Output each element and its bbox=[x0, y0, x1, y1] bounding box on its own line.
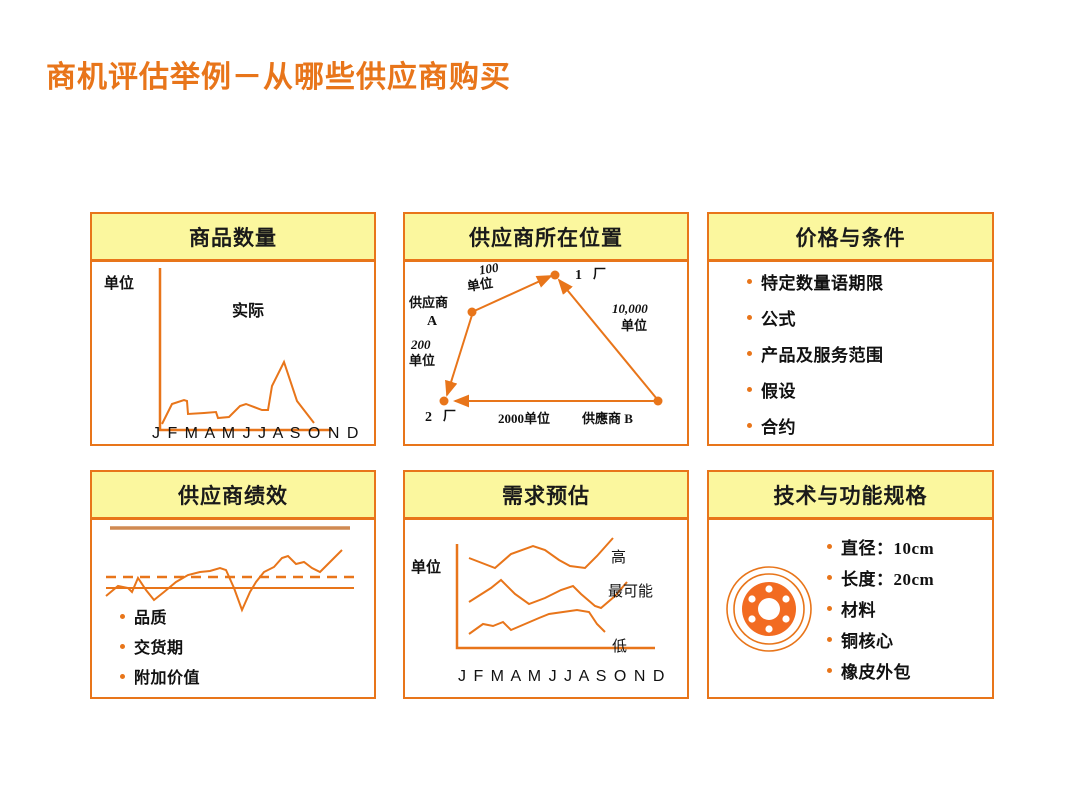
panel-specs: 技术与功能规格 直径：10cm bbox=[707, 470, 994, 699]
bullet-dot-icon bbox=[747, 279, 752, 284]
panel-forecast-title: 需求预估 bbox=[405, 472, 687, 520]
slide-title: 商机评估举例－从哪些供应商购买 bbox=[46, 52, 511, 96]
bullet-dot-icon bbox=[747, 351, 752, 356]
node-label-plant1-word: 厂 bbox=[593, 267, 606, 281]
forecast-series-label-high: 高 bbox=[611, 546, 626, 567]
forecast-series-label-low: 低 bbox=[612, 635, 627, 656]
panel-location-title: 供应商所在位置 bbox=[405, 214, 687, 262]
panel-performance-title: 供应商绩效 bbox=[92, 472, 374, 520]
panel-location-body: 100 单位 供应商 A 200 单位 1 厂 10,000 单位 2 厂 20… bbox=[405, 262, 687, 444]
list-item: 公式 bbox=[747, 305, 992, 330]
node-label-plant2-number: 2 bbox=[425, 410, 432, 425]
specs-item-4: 橡皮外包 bbox=[841, 658, 911, 683]
price-item-0: 特定数量语期限 bbox=[761, 269, 884, 294]
node-label-plant1-number: 1 bbox=[575, 268, 582, 283]
panel-price-title: 价格与条件 bbox=[709, 214, 992, 262]
node-label-supplier-a: 供应商 bbox=[409, 296, 448, 310]
list-item: 特定数量语期限 bbox=[747, 269, 992, 294]
panel-specs-body: 直径：10cm 长度：20cm 材料 铜核心 bbox=[709, 520, 992, 697]
list-item: 假设 bbox=[747, 377, 992, 402]
specs-item-2: 材料 bbox=[841, 596, 876, 621]
performance-item-2: 附加价值 bbox=[134, 664, 200, 688]
performance-bullet-list: 品质 交货期 附加价值 bbox=[120, 604, 200, 688]
bullet-dot-icon bbox=[827, 575, 832, 580]
price-bullet-list: 特定数量语期限 公式 产品及服务范围 假设 bbox=[709, 262, 992, 444]
performance-item-0: 品质 bbox=[134, 604, 167, 628]
bullet-dot-icon bbox=[747, 315, 752, 320]
list-item: 材料 bbox=[827, 596, 992, 621]
bullet-dot-icon bbox=[827, 544, 832, 549]
node-label-plant2-word: 厂 bbox=[443, 409, 456, 423]
performance-item-1: 交货期 bbox=[134, 634, 184, 658]
quantity-line-chart bbox=[92, 262, 374, 445]
bullet-dot-icon bbox=[747, 387, 752, 392]
panel-forecast-body: 单位 高 最可能 低 J F M A M J J A S O N D bbox=[405, 520, 687, 697]
slide-canvas: 商机评估举例－从哪些供应商购买 商品数量 单位 实际 J F M A M J J… bbox=[0, 0, 1080, 810]
node-label-supplier-b: 供應商 B bbox=[582, 412, 633, 426]
bullet-dot-icon bbox=[827, 637, 832, 642]
specs-item-3: 铜核心 bbox=[841, 627, 894, 652]
edge-label-a-plant2-unit: 单位 bbox=[409, 354, 435, 368]
edge-label-b-plant1-qty: 10,000 bbox=[612, 302, 648, 316]
list-item: 附加价值 bbox=[120, 664, 200, 688]
panel-quantity: 商品数量 单位 实际 J F M A M J J A S O N D bbox=[90, 212, 376, 446]
panel-specs-title: 技术与功能规格 bbox=[709, 472, 992, 520]
specs-item-0: 直径：10cm bbox=[841, 534, 934, 559]
panel-price: 价格与条件 特定数量语期限 公式 产品及服务范围 bbox=[707, 212, 994, 446]
specs-item-1: 长度：20cm bbox=[841, 565, 934, 590]
price-item-3: 假设 bbox=[761, 377, 796, 402]
panel-quantity-title: 商品数量 bbox=[92, 214, 374, 262]
forecast-y-axis-label: 单位 bbox=[411, 556, 441, 577]
price-item-4: 合约 bbox=[761, 413, 796, 438]
quantity-y-axis-label: 单位 bbox=[104, 272, 134, 293]
quantity-month-axis: J F M A M J J A S O N D bbox=[152, 425, 360, 443]
panel-forecast: 需求预估 单位 高 最可能 低 J F M A M J J A S O N D bbox=[403, 470, 689, 699]
panel-performance-body: 品质 交货期 附加价值 bbox=[92, 520, 374, 697]
edge-label-b-plant2: 2000单位 bbox=[498, 412, 550, 426]
forecast-series-label-most-likely: 最可能 bbox=[608, 580, 653, 601]
bullet-dot-icon bbox=[120, 614, 125, 619]
list-item: 交货期 bbox=[120, 634, 200, 658]
panel-performance: 供应商绩效 品质 交货期 bbox=[90, 470, 376, 699]
price-item-1: 公式 bbox=[761, 305, 796, 330]
edge-label-b-plant1-unit: 单位 bbox=[621, 319, 647, 333]
list-item: 产品及服务范围 bbox=[747, 341, 992, 366]
bullet-dot-icon bbox=[827, 606, 832, 611]
list-item: 品质 bbox=[120, 604, 200, 628]
panel-price-body: 特定数量语期限 公式 产品及服务范围 假设 bbox=[709, 262, 992, 444]
bullet-dot-icon bbox=[120, 674, 125, 679]
bullet-dot-icon bbox=[120, 644, 125, 649]
list-item: 直径：10cm bbox=[827, 534, 992, 559]
panel-location: 供应商所在位置 bbox=[403, 212, 689, 446]
list-item: 长度：20cm bbox=[827, 565, 992, 590]
bullet-dot-icon bbox=[827, 668, 832, 673]
list-item: 合约 bbox=[747, 413, 992, 438]
specs-bullet-list: 直径：10cm 长度：20cm 材料 铜核心 bbox=[709, 520, 992, 697]
forecast-month-axis: J F M A M J J A S O N D bbox=[458, 668, 666, 686]
panel-grid: 商品数量 单位 实际 J F M A M J J A S O N D 供应商所在… bbox=[90, 212, 994, 699]
list-item: 橡皮外包 bbox=[827, 658, 992, 683]
bullet-dot-icon bbox=[747, 423, 752, 428]
edge-label-a-plant2-qty: 200 bbox=[411, 338, 431, 352]
quantity-series-label-actual: 实际 bbox=[232, 297, 264, 321]
price-item-2: 产品及服务范围 bbox=[761, 341, 884, 366]
node-label-supplier-a-code: A bbox=[427, 314, 437, 329]
panel-quantity-body: 单位 实际 J F M A M J J A S O N D bbox=[92, 262, 374, 444]
list-item: 铜核心 bbox=[827, 627, 992, 652]
